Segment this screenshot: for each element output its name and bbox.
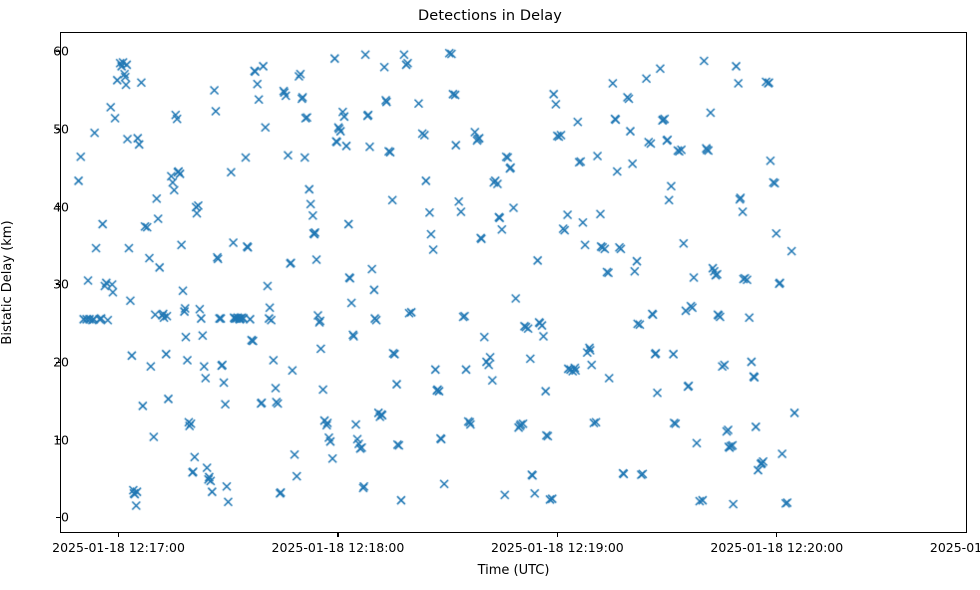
x-tick-label: 2025-01-18 12:18:00 xyxy=(272,540,405,555)
y-tick-label: 20 xyxy=(53,355,69,370)
x-tick-label: 2025-01-18 12:21:00 xyxy=(930,540,980,555)
y-tick-label: 10 xyxy=(53,432,69,447)
scatter-points-canvas xyxy=(61,33,966,532)
x-axis-label: Time (UTC) xyxy=(60,563,967,578)
y-tick-label: 30 xyxy=(53,277,69,292)
plot-area xyxy=(60,32,967,533)
y-tick-mark xyxy=(56,517,60,518)
x-tick-mark xyxy=(557,533,558,537)
x-tick-label: 2025-01-18 12:17:00 xyxy=(52,540,185,555)
y-tick-label: 0 xyxy=(61,510,69,525)
x-tick-label: 2025-01-18 12:19:00 xyxy=(491,540,624,555)
y-tick-label: 50 xyxy=(53,122,69,137)
x-tick-mark xyxy=(776,533,777,537)
y-tick-label: 60 xyxy=(53,44,69,59)
x-tick-mark xyxy=(118,533,119,537)
x-tick-label: 2025-01-18 12:20:00 xyxy=(710,540,843,555)
y-tick-label: 40 xyxy=(53,199,69,214)
chart-title: Detections in Delay xyxy=(0,8,980,24)
x-tick-mark xyxy=(337,533,338,537)
figure-scatter-detections-in-delay: Detections in Delay 0102030405060 2025-0… xyxy=(0,0,980,590)
y-axis-label: Bistatic Delay (km) xyxy=(0,32,18,533)
